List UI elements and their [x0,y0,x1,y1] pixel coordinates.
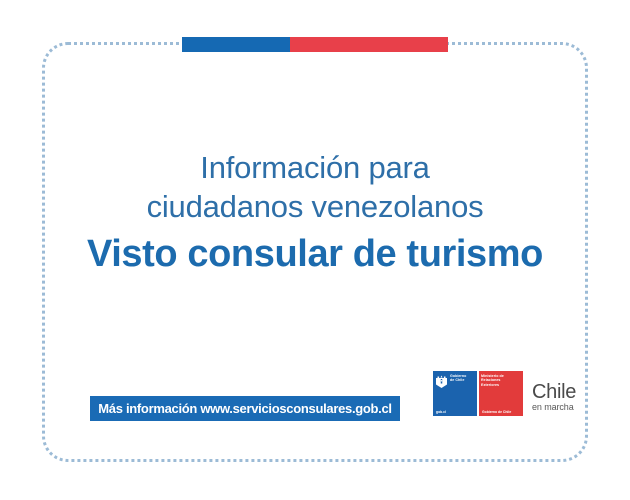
ministerio-name-line-3: Exteriores [481,383,521,387]
gobierno-name-line-2: de Chile [450,378,466,382]
headline-block: Información para ciudadanos venezolanos … [42,148,588,279]
gobierno-logo-name: Gobierno de Chile [450,374,466,383]
more-info-banner[interactable]: Más información www.serviciosconsulares.… [90,396,400,421]
ministerio-logo-footer: Gobierno de Chile [481,410,521,414]
headline-line-3-title: Visto consular de turismo [42,229,588,279]
chile-wordmark-main: Chile [532,382,576,402]
chile-wordmark-sub: en marcha [532,402,576,413]
chile-flag-bar [182,37,448,52]
headline-line-2: ciudadanos venezolanos [42,187,588,226]
gobierno-logo-top-row: Gobierno de Chile [435,374,475,388]
more-info-banner-text: Más información www.serviciosconsulares.… [98,401,391,416]
headline-line-1: Información para [42,148,588,187]
chile-coat-of-arms-icon [435,374,448,388]
gobierno-de-chile-logo-block: Gobierno de Chile gob.cl [433,371,477,416]
government-logo-lockup: Gobierno de Chile gob.cl Ministerio de R… [433,371,576,416]
ministerio-relaciones-exteriores-logo-block: Ministerio de Relaciones Exteriores Gobi… [479,371,523,416]
poster-slide: Información para ciudadanos venezolanos … [0,0,630,500]
gobierno-logo-footer: gob.cl [435,410,475,414]
chile-flag-blue-segment [182,37,290,52]
chile-en-marcha-wordmark: Chile en marcha [532,371,576,416]
chile-flag-red-segment [290,37,448,52]
ministerio-logo-name: Ministerio de Relaciones Exteriores [481,374,521,387]
